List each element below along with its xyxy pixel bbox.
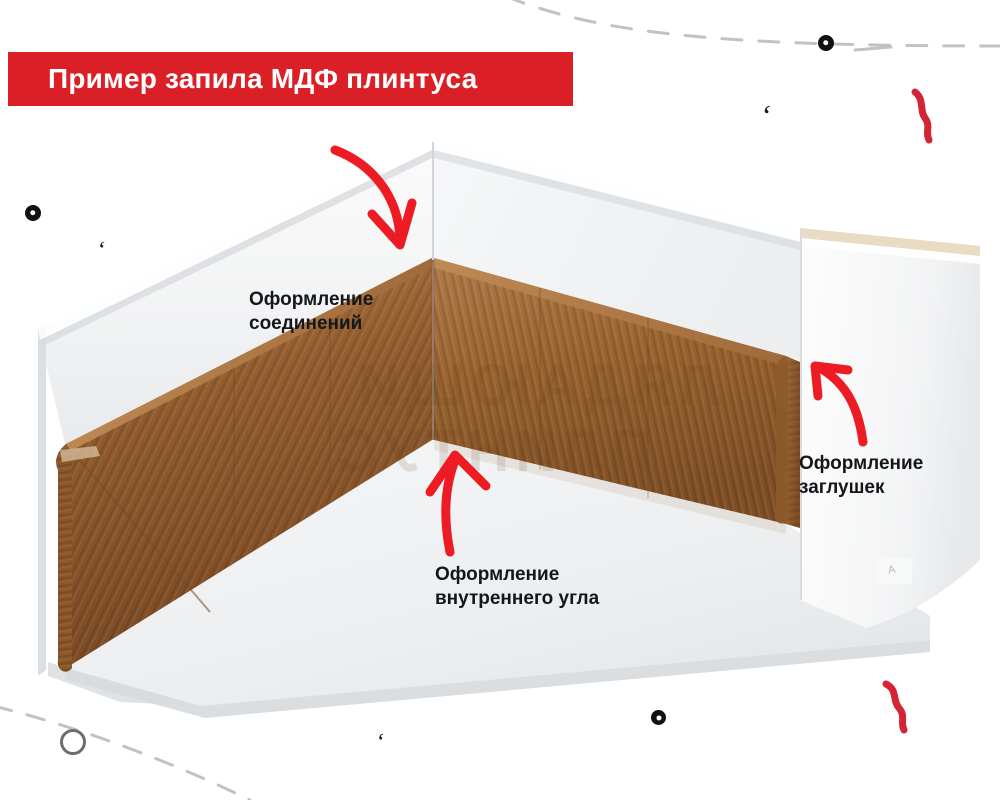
baseboard-left-endcap-grain [56, 444, 72, 672]
callout-end-cap: Оформление заглушек [799, 452, 923, 500]
wall-left-edge [38, 326, 46, 676]
title-banner: Пример запила МДФ плинтуса [8, 52, 573, 106]
baseboard-corner-photo [0, 0, 1000, 800]
poster-canvas: , , , [0, 0, 1000, 800]
callout-joints: Оформление соединений [249, 288, 373, 336]
callout-inner-corner: Оформление внутреннего угла [435, 563, 599, 611]
title-text: Пример запила МДФ плинтуса [8, 63, 477, 95]
baseboard-right-nose [774, 356, 788, 524]
baseboard-right-endface-grain [786, 356, 800, 528]
